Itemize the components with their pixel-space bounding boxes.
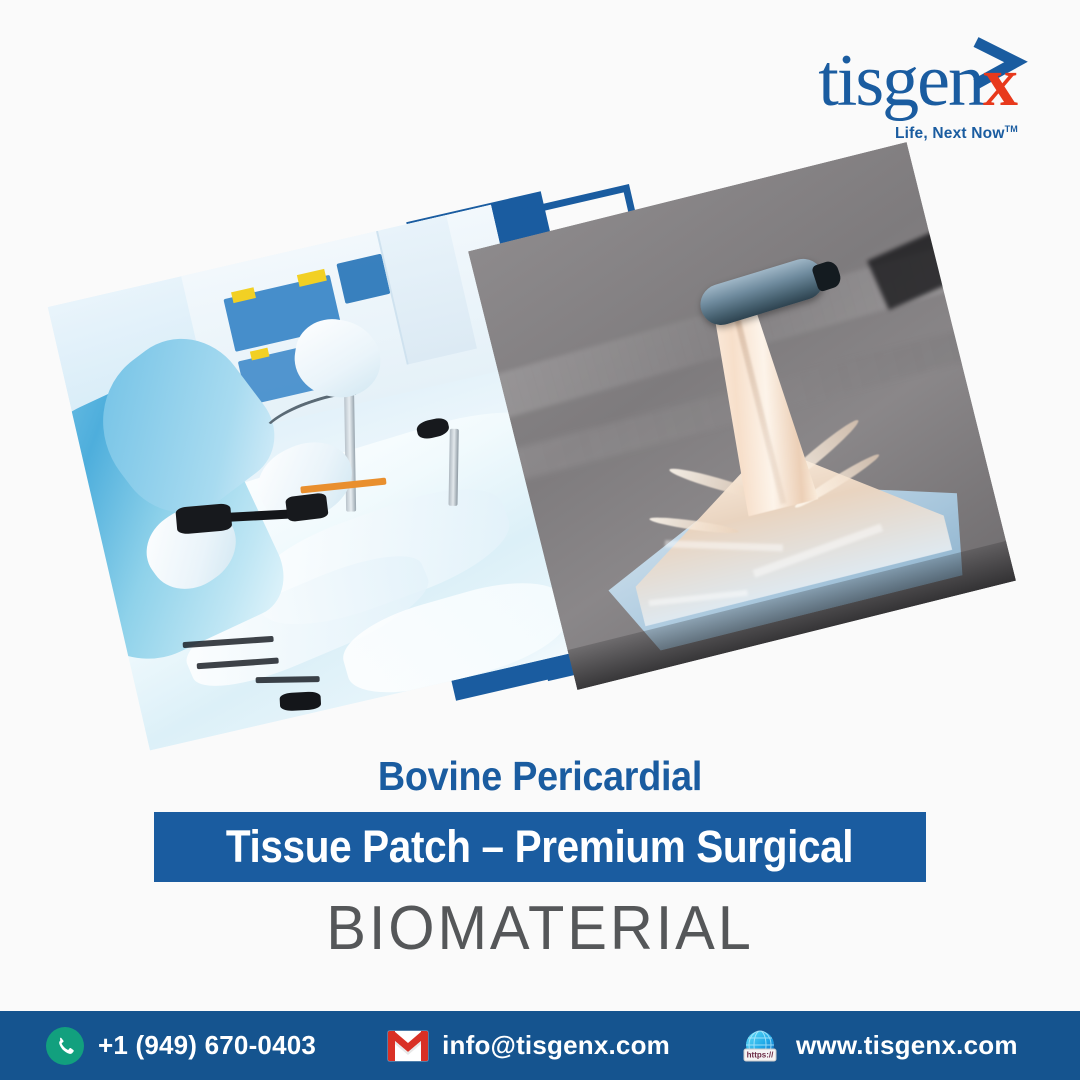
phone-icon (46, 1027, 84, 1065)
footer-email-label: info@tisgenx.com (442, 1030, 670, 1061)
logo-word-accent: x (983, 44, 1016, 121)
footer-phone-label: +1 (949) 670-0403 (98, 1030, 316, 1061)
logo-wordmark: tisgenx (818, 44, 1016, 120)
globe-https-icon: https:// (738, 1026, 782, 1066)
footer-phone-item[interactable]: +1 (949) 670-0403 (46, 1027, 316, 1065)
headline-band: Tissue Patch – Premium Surgical (154, 812, 926, 882)
headline-block: Bovine Pericardial Tissue Patch – Premiu… (0, 752, 1080, 962)
logo-tagline-text: Life, Next Now (895, 125, 1005, 142)
logo-word-main: tisgen (818, 40, 983, 122)
trademark-mark: TM (1005, 124, 1018, 134)
headline-line-3: BIOMATERIAL (22, 896, 1059, 962)
headline-line-1: Bovine Pericardial (43, 752, 1037, 800)
brand-logo[interactable]: tisgenx Life, Next NowTM (820, 18, 1050, 136)
headline-line-2: Tissue Patch – Premium Surgical (226, 821, 853, 873)
svg-text:https://: https:// (747, 1050, 774, 1059)
gmail-envelope-icon (388, 1031, 428, 1061)
footer-website-item[interactable]: https:// www.tisgenx.com (738, 1026, 1018, 1066)
poster-canvas: tisgenx Life, Next NowTM (0, 0, 1080, 1080)
footer-email-item[interactable]: info@tisgenx.com (388, 1030, 670, 1061)
contact-footer-bar: +1 (949) 670-0403 info@tisgenx.com (0, 1011, 1080, 1080)
logo-tagline: Life, Next NowTM (895, 124, 1018, 143)
footer-website-label: www.tisgenx.com (796, 1030, 1018, 1061)
